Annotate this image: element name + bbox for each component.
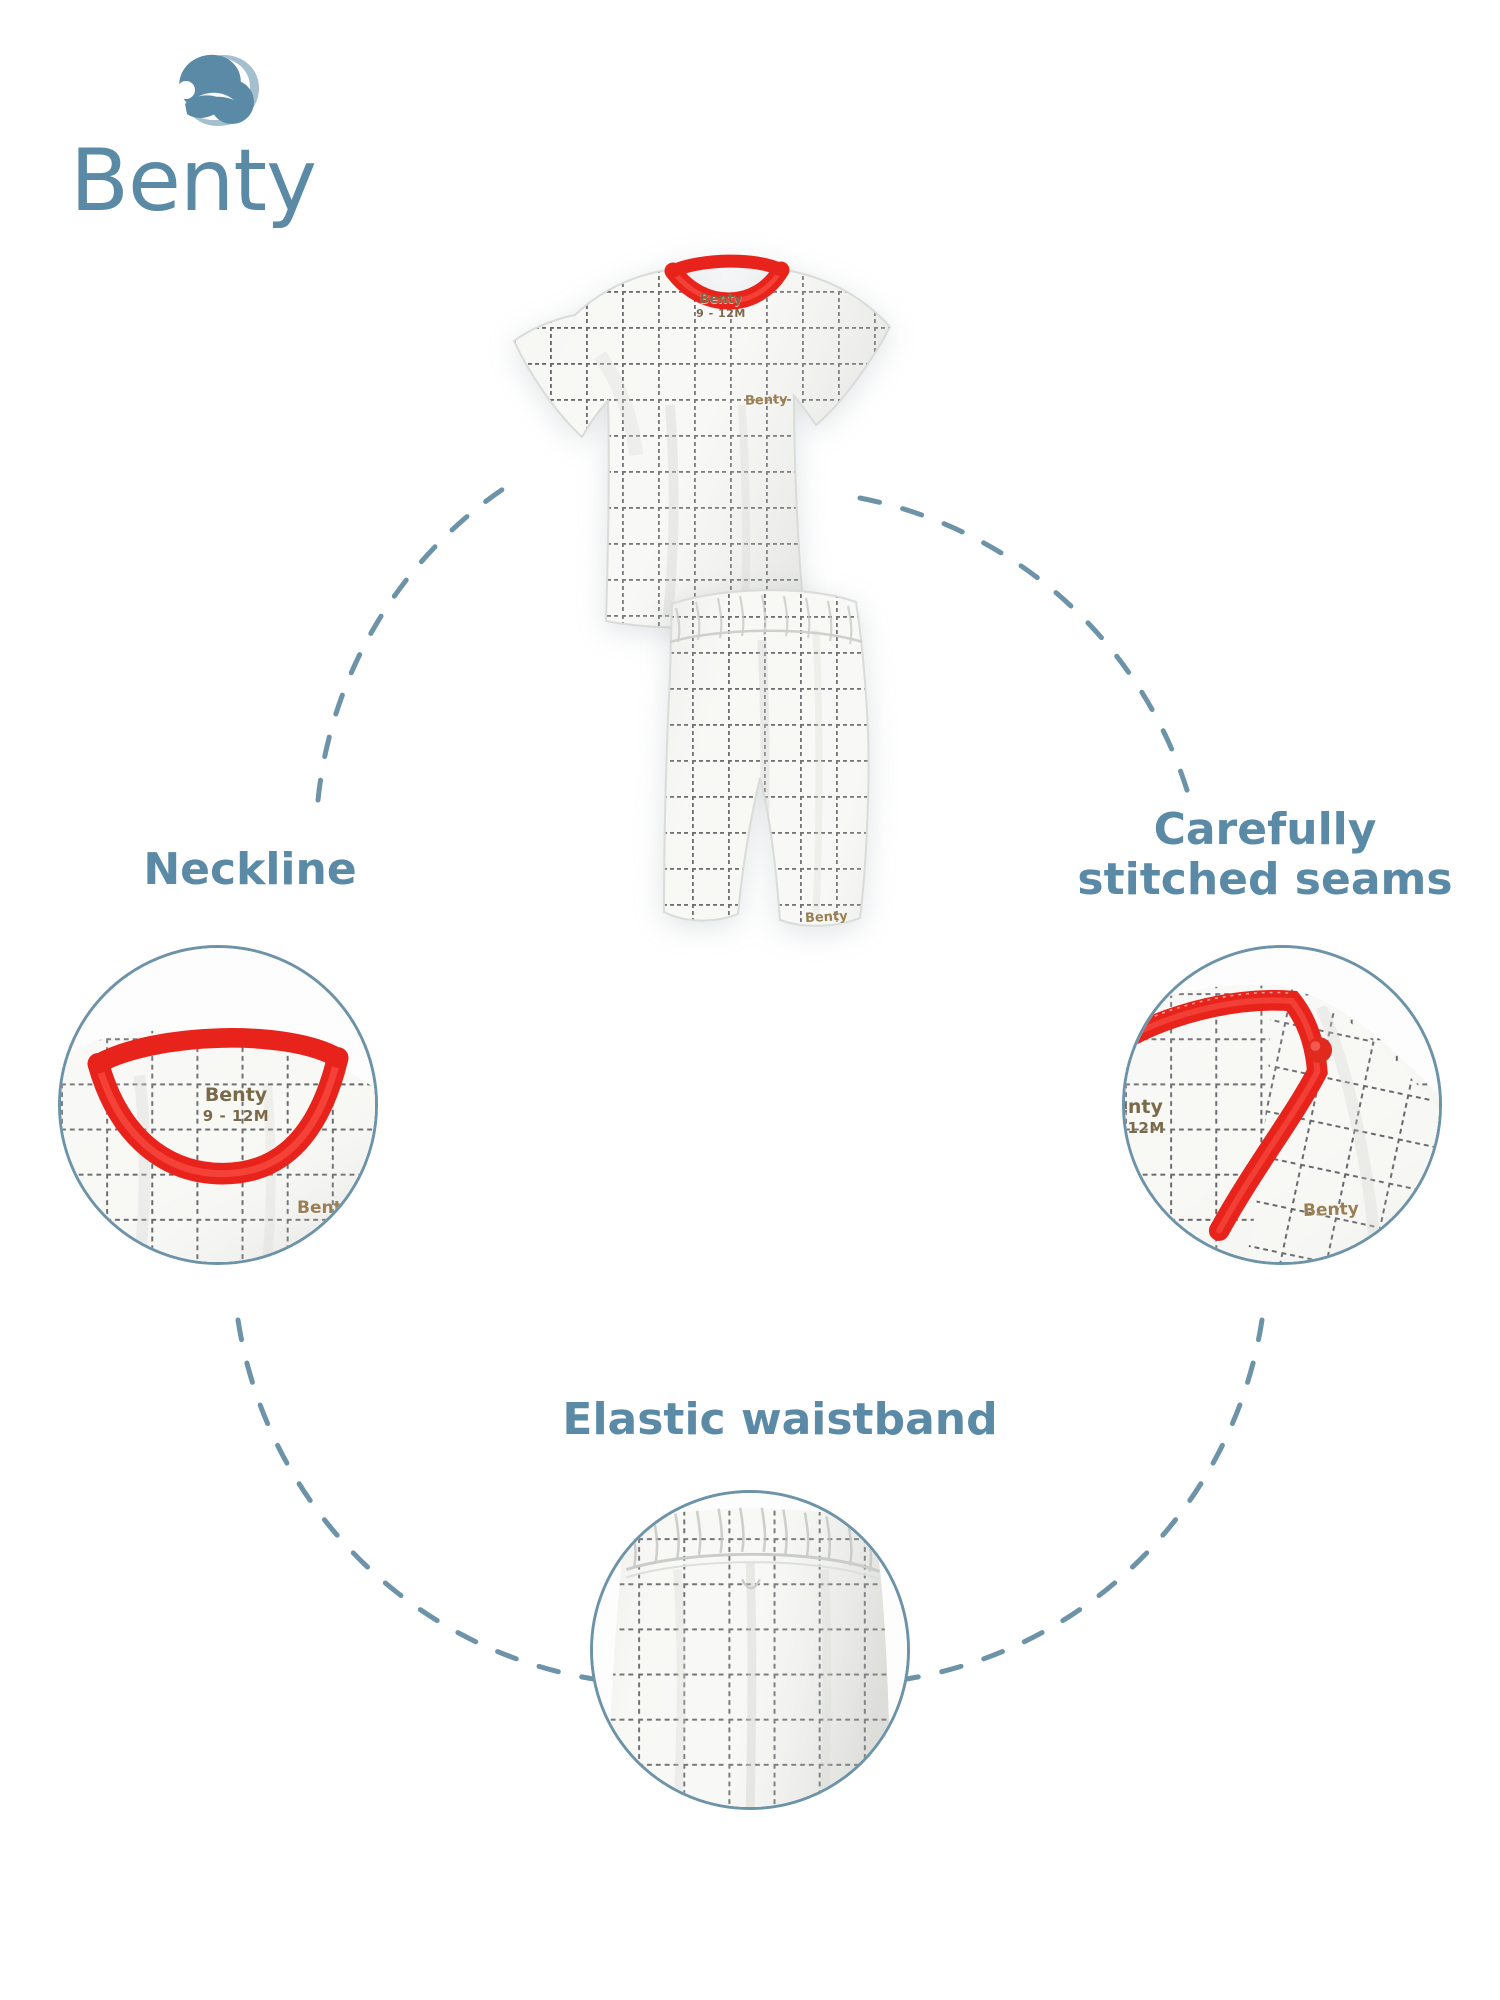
- neck-tag-seams-brand: enty: [1122, 1096, 1163, 1118]
- neck-tag-detail-brand: Benty: [205, 1084, 267, 1106]
- connector-bottom-right: [900, 1320, 1262, 1680]
- callout-label-seams: Carefully stitched seams: [1030, 805, 1500, 905]
- red-snap-button: [1307, 1037, 1333, 1063]
- infographic-canvas: Benty Neckline Carefully stitched seams …: [0, 0, 1500, 2000]
- side-brand-print-detail: Benty: [297, 1198, 353, 1218]
- brand-logo: Benty: [70, 50, 370, 240]
- pants-leg-brand-print: Benty: [805, 909, 848, 926]
- neck-tag-detail-size: 9 - 12M: [203, 1107, 269, 1125]
- neck-tag: Benty 9 - 12M: [666, 293, 776, 320]
- callout-label-neckline: Neckline: [40, 845, 460, 895]
- neck-tag-size: 9 - 12M: [696, 307, 746, 320]
- detail-circle-stitched-seams: enty - 12M Benty: [1122, 945, 1442, 1265]
- neck-tag-detail-seams: enty - 12M: [1122, 1098, 1235, 1138]
- chest-brand-print: Benty: [745, 392, 788, 408]
- brand-wordmark: Benty: [70, 138, 316, 224]
- benty-bird-logo-icon: [160, 50, 265, 140]
- neck-tag-seams-size: - 12M: [1122, 1119, 1165, 1137]
- detail-circle-neckline: Benty 9 - 12M Benty: [58, 945, 378, 1265]
- sleeve-brand-print: Benty: [1303, 1199, 1359, 1221]
- callout-label-waistband: Elastic waistband: [430, 1395, 1130, 1445]
- detail-circle-waistband: [590, 1490, 910, 1810]
- connector-bottom-left: [238, 1320, 600, 1680]
- product-pants: Benty: [620, 580, 980, 1010]
- neck-tag-brand: Benty: [700, 292, 743, 307]
- neck-tag-detail: Benty 9 - 12M: [171, 1086, 301, 1126]
